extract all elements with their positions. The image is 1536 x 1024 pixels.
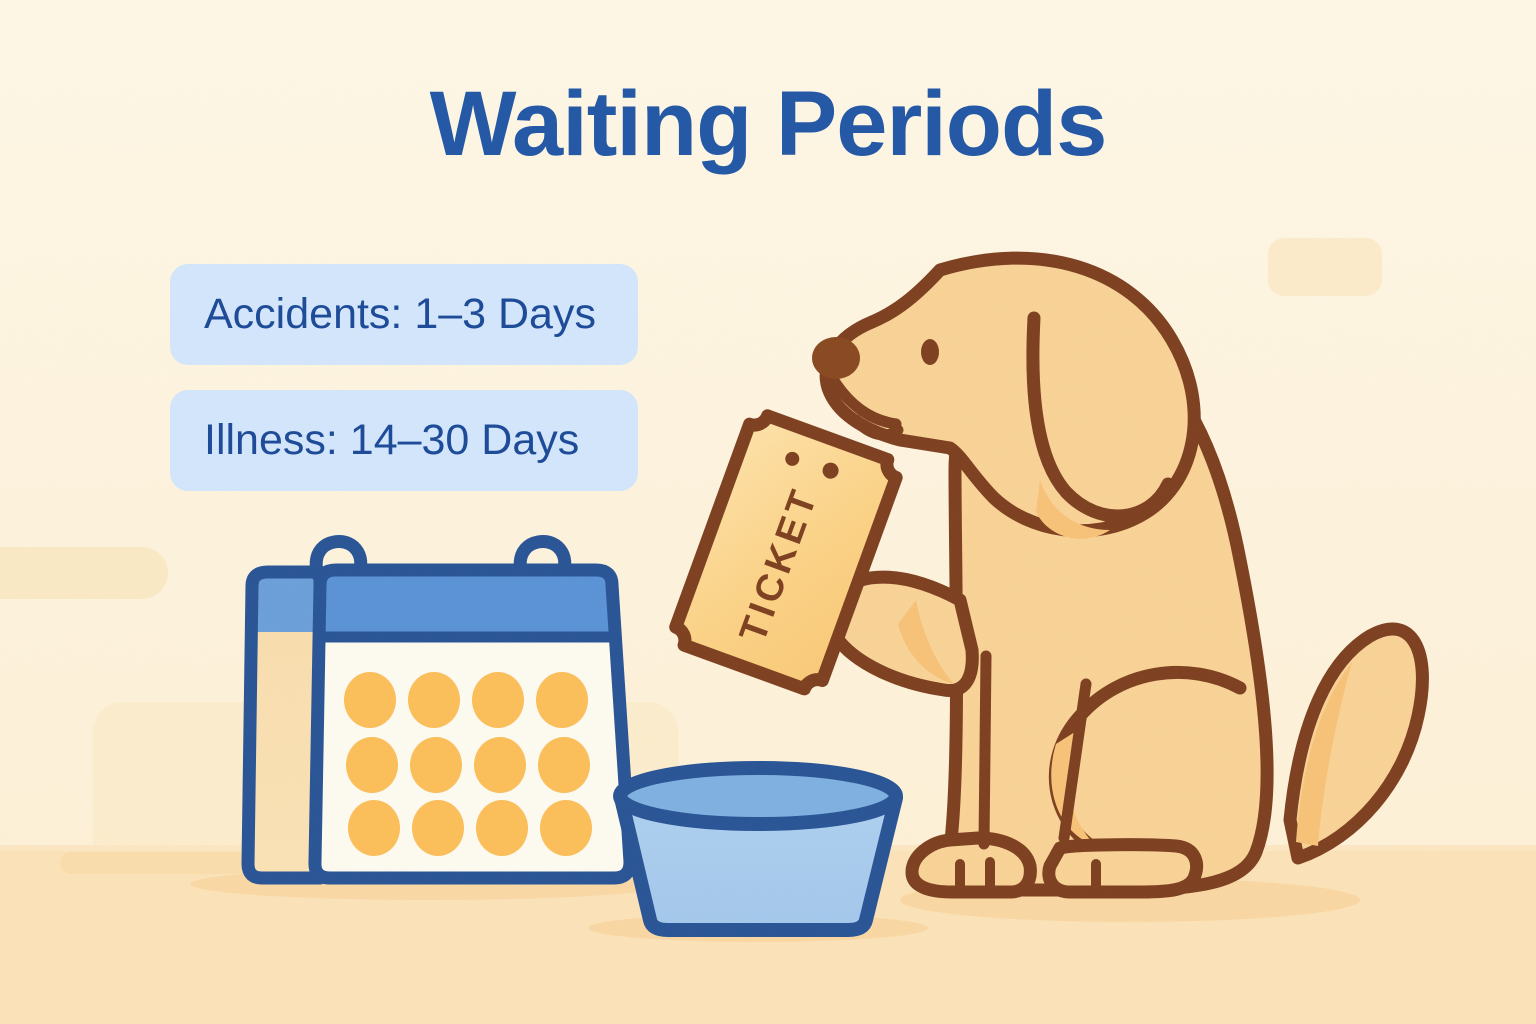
badge-illness-label: Illness: 14–30 Days	[204, 416, 579, 465]
illustration-canvas: TICKET Waiting Periods Accidents: 1–3 Da…	[0, 0, 1536, 1024]
badge-accidents-label: Accidents: 1–3 Days	[204, 290, 596, 339]
badge-accidents: Accidents: 1–3 Days	[170, 264, 638, 365]
page-title: Waiting Periods	[0, 72, 1536, 177]
badge-illness: Illness: 14–30 Days	[170, 390, 638, 491]
